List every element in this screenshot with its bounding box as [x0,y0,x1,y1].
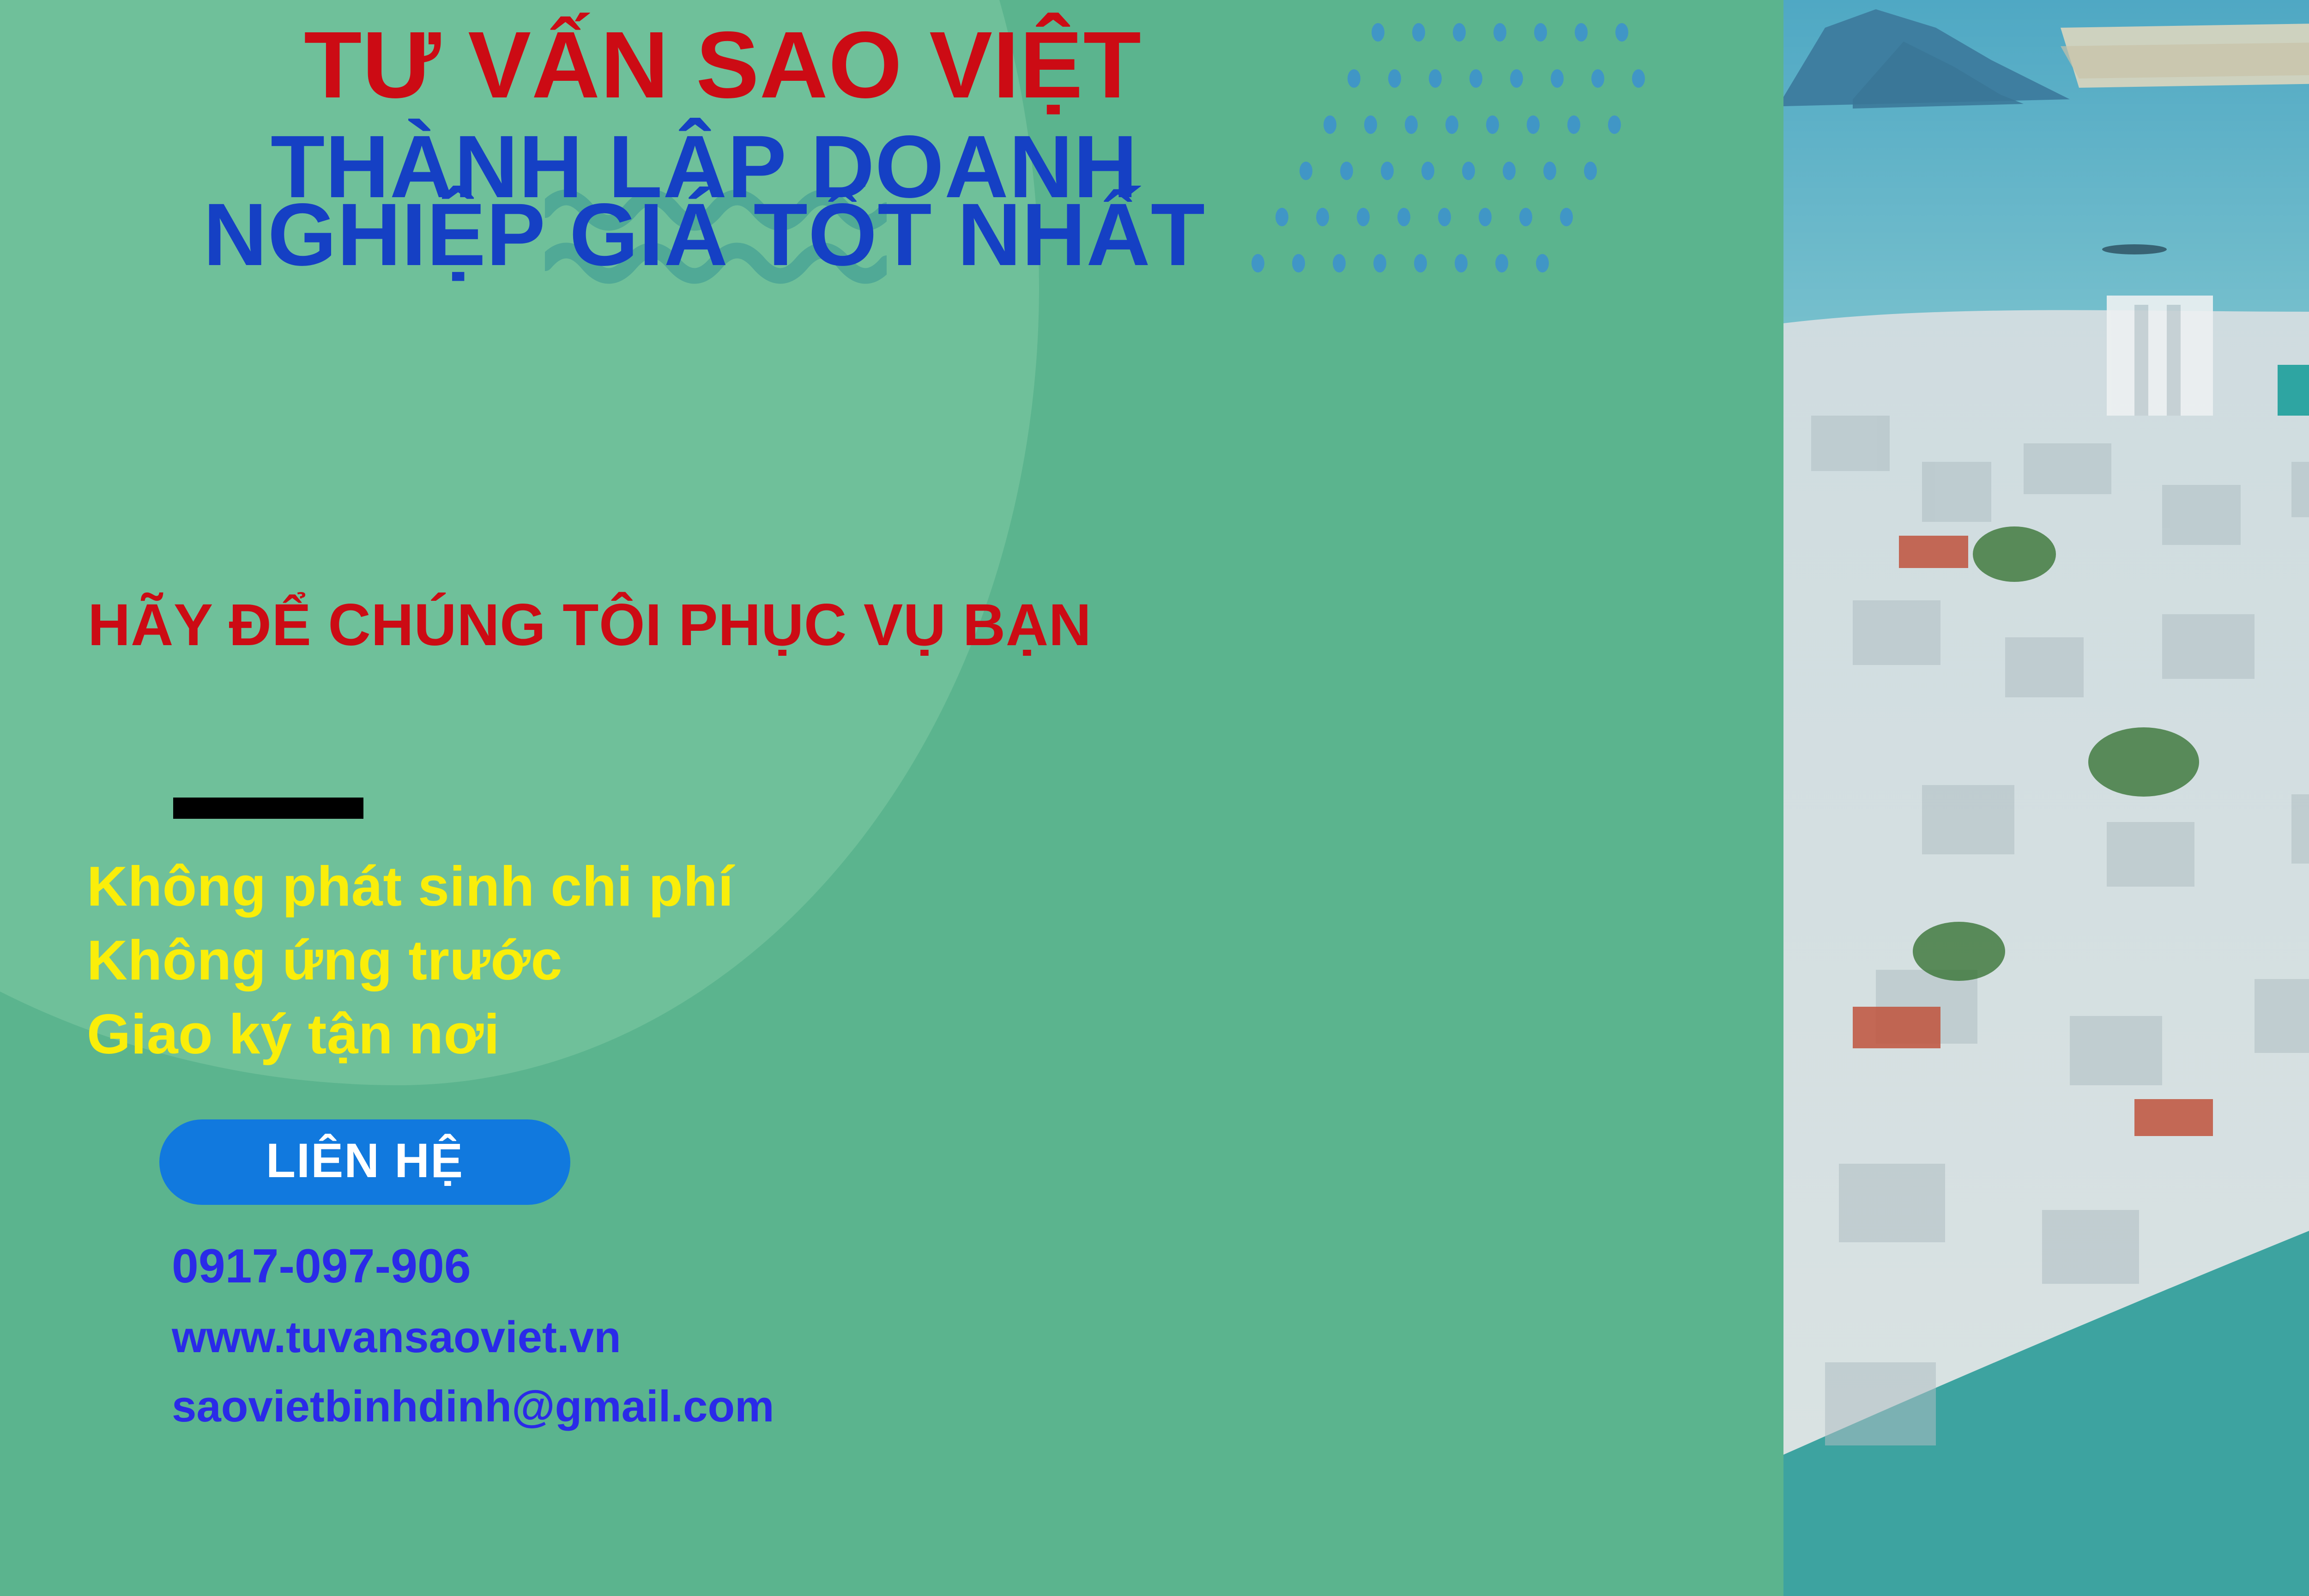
benefit-item: Giao ký tận nơi [87,997,734,1071]
contact-details: 0917-097-906 www.tuvansaoviet.vn saoviet… [172,1242,774,1429]
dot [1510,69,1523,88]
email-address[interactable]: saovietbinhdinh@gmail.com [172,1384,774,1429]
dot [1445,115,1458,134]
phone-number[interactable]: 0917-097-906 [172,1242,774,1290]
section-divider [173,798,363,819]
dot [1615,23,1628,42]
benefit-item: Không ứng trước [87,924,734,997]
coastal-city-photo [1783,0,2309,1596]
dot [1486,115,1499,134]
dot [1493,23,1506,42]
dot [1608,115,1621,134]
dot [1503,162,1516,180]
dot [1560,208,1573,226]
dot [1469,69,1482,88]
dot [1534,23,1547,42]
promotional-banner: TƯ VẤN SAO VIỆT THÀNH LẬP DOANH NGHIỆP G… [0,0,2309,1596]
dot [1584,162,1597,180]
dot [1567,115,1580,134]
dot [1527,115,1540,134]
company-name: TƯ VẤN SAO VIỆT [0,18,1445,112]
dot [1438,208,1451,226]
benefits-list: Không phát sinh chi phí Không ứng trước … [87,850,734,1071]
website-url[interactable]: www.tuvansaoviet.vn [172,1315,774,1360]
dot [1414,254,1427,272]
dot [1519,208,1532,226]
dot [1632,69,1645,88]
benefit-item: Không phát sinh chi phí [87,850,734,924]
dot [1536,254,1549,272]
dot [1551,69,1564,88]
dot [1575,23,1588,42]
dot [1462,162,1475,180]
dot [1591,69,1604,88]
dot [1455,254,1468,272]
dot [1453,23,1466,42]
left-content-panel: TƯ VẤN SAO VIỆT THÀNH LẬP DOANH NGHIỆP G… [0,0,1783,1596]
contact-button-label: LIÊN HỆ [266,1137,464,1188]
dot [1421,162,1434,180]
contact-button[interactable]: LIÊN HỆ [159,1119,570,1205]
dot [1479,208,1492,226]
dot [1543,162,1556,180]
dot [1495,254,1508,272]
coastal-city-illustration [1783,0,2309,1596]
service-headline-line-2: NGHIỆP GIÁ TỐT NHẤT [0,190,1408,279]
tagline: HÃY ĐỂ CHÚNG TÔI PHỤC VỤ BẠN [88,596,1092,655]
